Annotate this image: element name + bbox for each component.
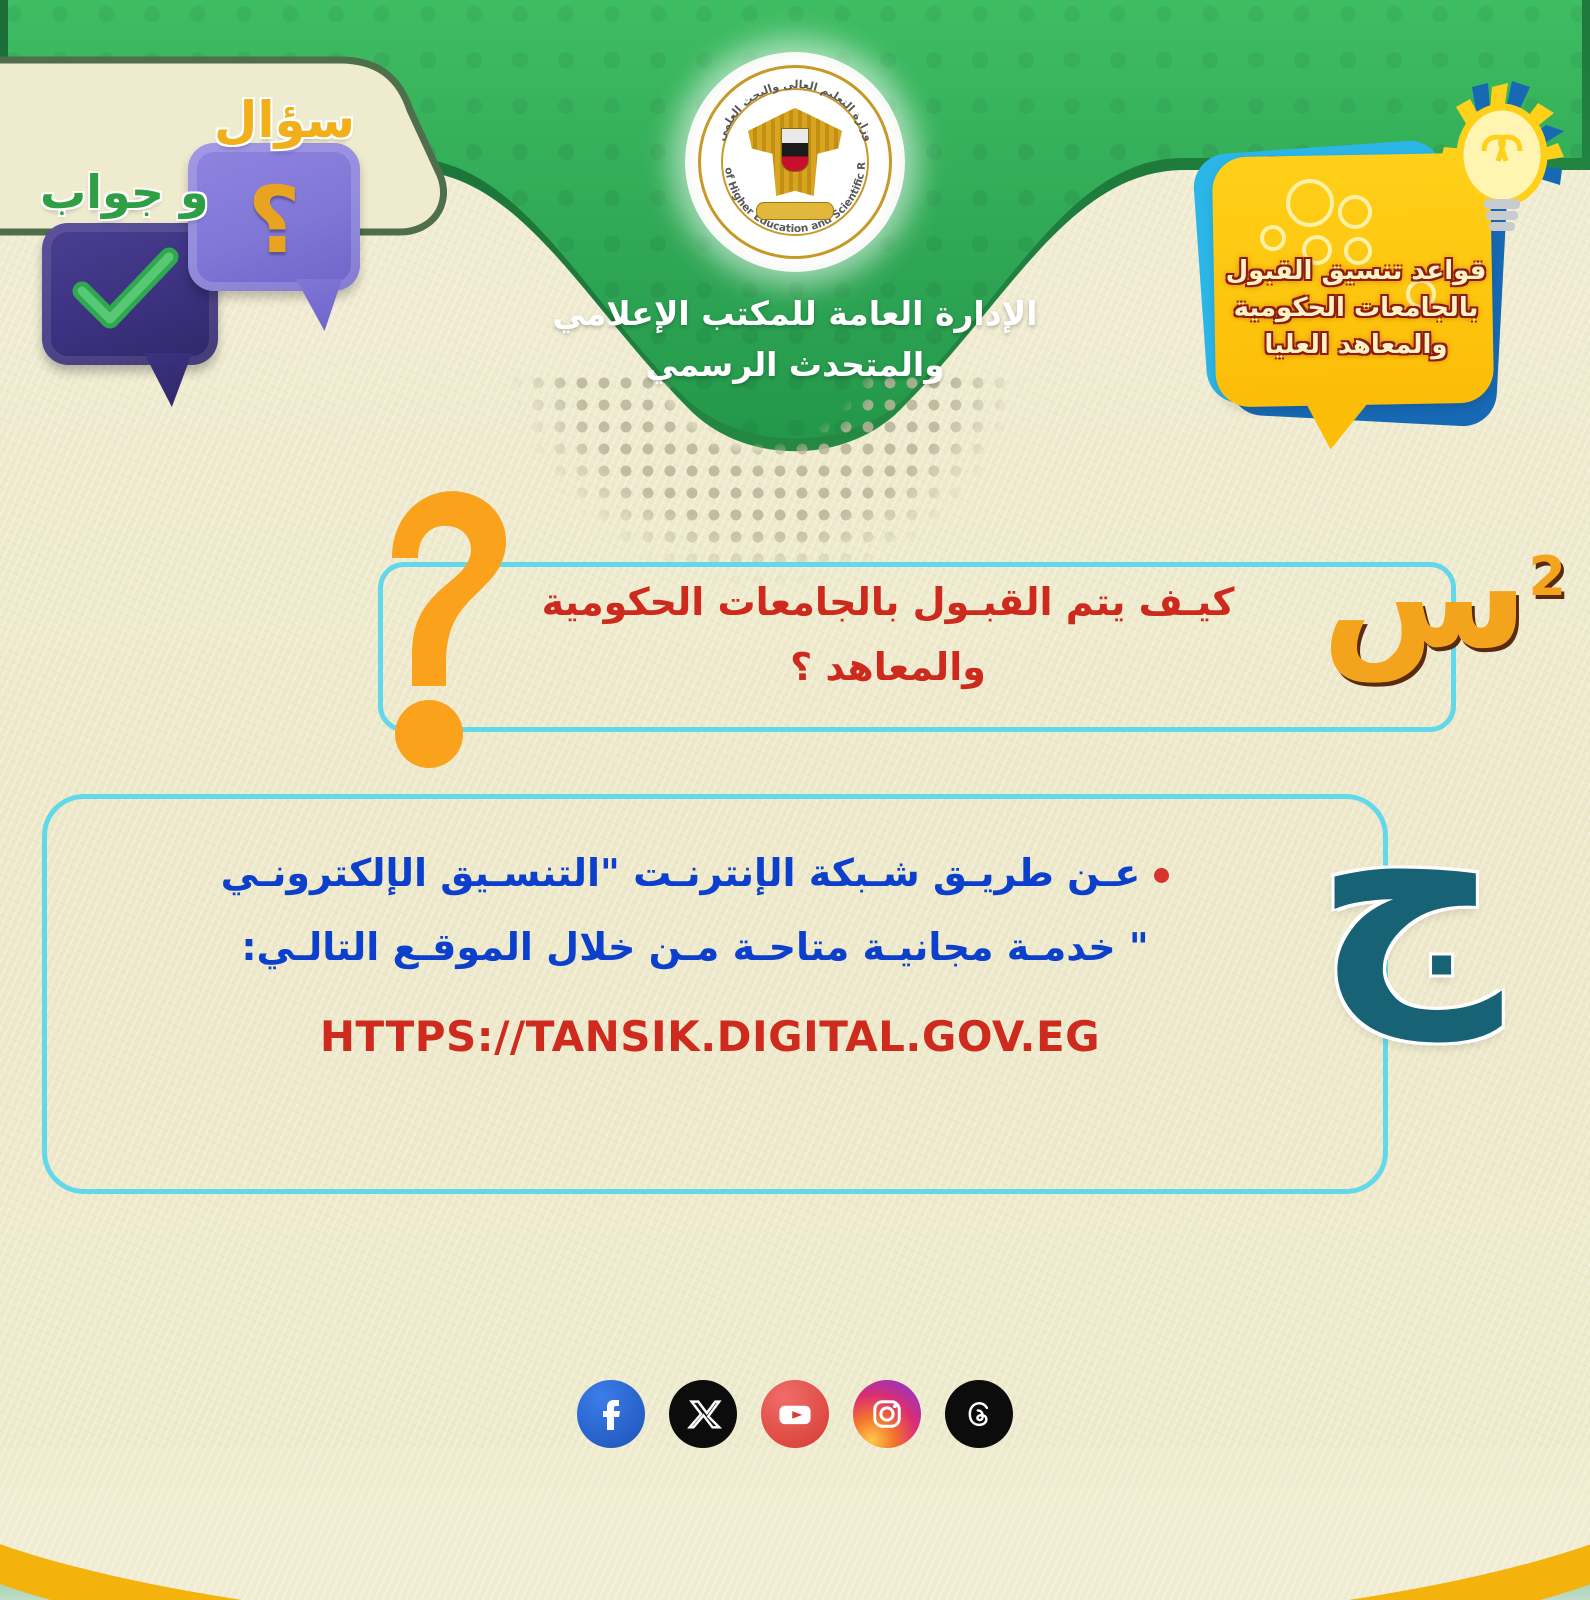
facebook-icon[interactable]	[577, 1380, 645, 1448]
tansik-url-link[interactable]: HTTPS://TANSIK.DIGITAL.GOV.EG	[42, 1012, 1378, 1061]
instagram-icon[interactable]	[853, 1380, 921, 1448]
question-letter: س	[1321, 508, 1528, 682]
threads-icon[interactable]	[945, 1380, 1013, 1448]
topic-line1: قواعد تنسيق القبول	[1220, 253, 1492, 290]
lightbulb-icon	[1438, 81, 1566, 251]
label-answer-word: و جواب	[40, 165, 209, 219]
topic-line3: والمعاهد العليا	[1220, 327, 1492, 364]
checkmark-icon	[70, 245, 180, 331]
social-links-row	[0, 1380, 1590, 1448]
question-answer-badge: ؟ سؤال و جواب	[18, 95, 378, 395]
topic-line2: بالجامعات الحكومية	[1220, 290, 1492, 327]
poster-canvas: وزارة التعليم العالى والبحث العلمى Minis…	[0, 0, 1590, 1600]
x-twitter-icon[interactable]	[669, 1380, 737, 1448]
answer-marker: ج	[1315, 760, 1502, 1020]
answer-line1: عـن طريـق شـبكة الإنترنـت "التنسـيق الإل…	[221, 851, 1141, 895]
bubble-decorations	[1230, 175, 1370, 265]
bullet-icon	[1154, 868, 1169, 883]
label-question-word: سؤال	[214, 91, 355, 149]
footer-cream-curve	[0, 1448, 1590, 1600]
eagle-emblem-icon	[735, 102, 855, 222]
question-line2: والمعاهد ؟	[398, 635, 1378, 700]
answer-line2: " خدمـة مجانيـة متاحـة مـن خلال الموقـع …	[120, 910, 1270, 984]
question-marker: 2س	[1321, 520, 1566, 670]
answer-text: عـن طريـق شـبكة الإنترنـت "التنسـيق الإل…	[120, 836, 1270, 984]
topic-badge-text: قواعد تنسيق القبول بالجامعات الحكومية وا…	[1220, 253, 1492, 364]
question-number: 2	[1528, 545, 1566, 608]
topic-badge: قواعد تنسيق القبول بالجامعات الحكومية وا…	[1172, 75, 1572, 475]
ministry-emblem-logo: وزارة التعليم العالى والبحث العلمى Minis…	[685, 52, 905, 272]
question-mark-icon: ؟	[194, 165, 354, 275]
question-line1: كيـف يتم القبـول بالجامعات الحكومية	[398, 570, 1378, 635]
answer-line1-wrapper: عـن طريـق شـبكة الإنترنـت "التنسـيق الإل…	[120, 836, 1270, 910]
question-text: كيـف يتم القبـول بالجامعات الحكومية والم…	[398, 570, 1378, 701]
youtube-icon[interactable]	[761, 1380, 829, 1448]
